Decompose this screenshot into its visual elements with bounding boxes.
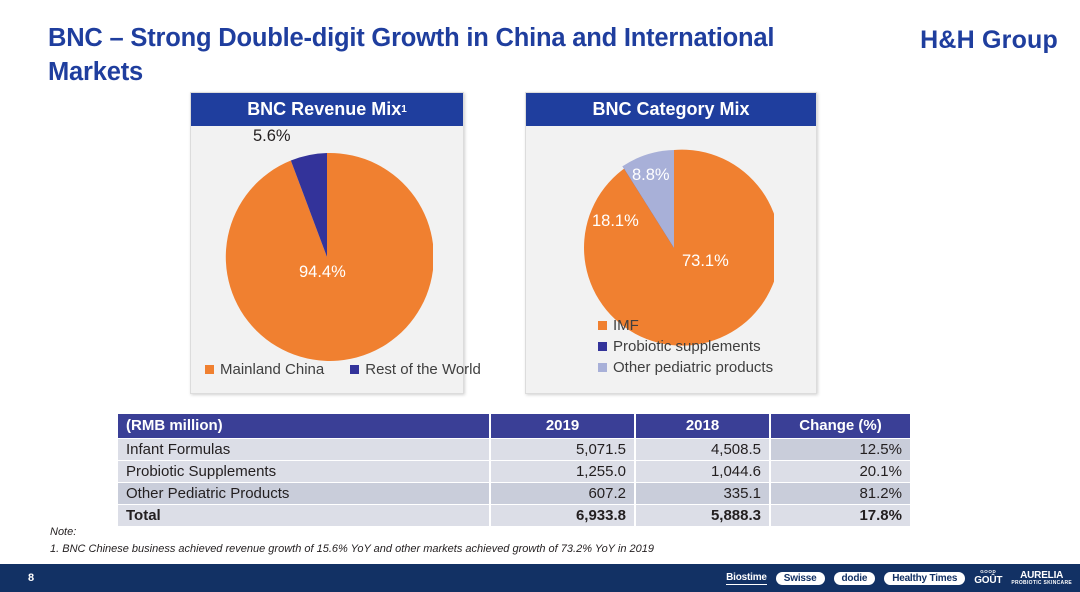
footer-brand-logos: Biostime Swisse dodie Healthy Times GOOD… [726,564,1072,592]
note-line-1: 1. BNC Chinese business achieved revenue… [50,541,654,558]
brand-logo: H&H Group [920,26,1058,55]
table-cell-change: 20.1% [770,460,910,482]
chart-title-category-mix-text: BNC Category Mix [592,99,749,120]
page-number: 8 [28,564,34,592]
pie-label-probiotic-supplements: 18.1% [592,212,639,231]
pie-svg-revenue-mix [221,151,433,363]
table-header: (RMB million) 2019 2018 Change (%) [118,414,910,438]
table-cell-change: 12.5% [770,438,910,460]
table-cell-2019: 607.2 [490,482,635,504]
footer-logo-swisse: Swisse [776,572,825,585]
table-col-header-2018: 2018 [635,414,770,438]
footer-bar: 8 Biostime Swisse dodie Healthy Times GO… [0,564,1080,592]
legend-item-mainland-china: Mainland China [205,362,324,377]
legend-item-rest-of-world: Rest of the World [350,362,481,377]
legend-label-other-pediatric: Other pediatric products [613,360,773,375]
footer-logo-aurelia: AURELIA PROBIOTIC SKINCARE [1011,570,1072,587]
chart-title-revenue-mix-text: BNC Revenue Mix [247,99,401,120]
table-col-header-2019: 2019 [490,414,635,438]
table-col-header-label: (RMB million) [118,414,490,438]
legend-category-mix: IMF Probiotic supplements Other pediatri… [598,318,773,381]
legend-swatch-lightblue-icon [598,363,607,372]
table-cell-2018: 5,888.3 [635,504,770,526]
footer-logo-biostime: Biostime [726,572,767,585]
table-body: Infant Formulas 5,071.5 4,508.5 12.5% Pr… [118,438,910,526]
pie-chart-revenue-mix: 5.6% 94.4% [221,151,433,363]
pie-label-rest-of-world: 5.6% [253,127,291,146]
table-cell-change: 17.8% [770,504,910,526]
table-cell-label: Infant Formulas [118,438,490,460]
financials-table: (RMB million) 2019 2018 Change (%) Infan… [118,414,910,527]
legend-item-imf: IMF [598,318,773,333]
footer-logo-gout-name: GOÛT [974,575,1002,586]
legend-swatch-darkblue-icon [350,365,359,374]
table-cell-label: Total [118,504,490,526]
chart-card-category-mix: BNC Category Mix 8.8% 18.1% 73.1% IMF [525,92,817,394]
table-cell-2018: 4,508.5 [635,438,770,460]
table-cell-change: 81.2% [770,482,910,504]
legend-label-imf: IMF [613,318,639,333]
table-cell-2018: 335.1 [635,482,770,504]
chart-title-category-mix: BNC Category Mix [526,93,816,126]
table-row-total: Total 6,933.8 5,888.3 17.8% [118,504,910,526]
table-col-header-change: Change (%) [770,414,910,438]
table-header-row: (RMB million) 2019 2018 Change (%) [118,414,910,438]
table-cell-label: Other Pediatric Products [118,482,490,504]
note-heading: Note: [50,524,654,541]
table-row: Other Pediatric Products 607.2 335.1 81.… [118,482,910,504]
chart-body-category-mix: 8.8% 18.1% 73.1% IMF Probiotic supplemen… [526,126,816,393]
table-cell-2018: 1,044.6 [635,460,770,482]
chart-title-revenue-mix: BNC Revenue Mix1 [191,93,463,126]
table-row: Infant Formulas 5,071.5 4,508.5 12.5% [118,438,910,460]
legend-label-rest-of-world: Rest of the World [365,362,481,377]
note-block: Note: 1. BNC Chinese business achieved r… [50,524,654,558]
pie-slice-mainland-china [226,153,433,361]
legend-swatch-darkblue-icon [598,342,607,351]
footer-logo-aurelia-sub: PROBIOTIC SKINCARE [1011,581,1072,587]
table-cell-label: Probiotic Supplements [118,460,490,482]
chart-card-revenue-mix: BNC Revenue Mix1 5.6% 94.4% Mainland Chi… [190,92,464,394]
legend-item-probiotic-supplements: Probiotic supplements [598,339,773,354]
table-cell-2019: 5,071.5 [490,438,635,460]
table-cell-2019: 1,255.0 [490,460,635,482]
legend-swatch-orange-icon [205,365,214,374]
table-cell-2019: 6,933.8 [490,504,635,526]
pie-label-mainland-china: 94.4% [299,263,346,282]
footer-logo-dodie: dodie [834,572,876,585]
footer-logo-healthy-times: Healthy Times [884,572,965,585]
pie-label-imf: 73.1% [682,252,729,271]
table-row: Probiotic Supplements 1,255.0 1,044.6 20… [118,460,910,482]
legend-label-probiotic-supplements: Probiotic supplements [613,339,761,354]
chart-title-footnote-ref: 1 [401,104,407,115]
legend-label-mainland-china: Mainland China [220,362,324,377]
pie-label-other-pediatric: 8.8% [632,166,670,185]
page-title: BNC – Strong Double-digit Growth in Chin… [48,22,848,89]
legend-swatch-orange-icon [598,321,607,330]
legend-revenue-mix: Mainland China Rest of the World [205,362,481,377]
legend-item-other-pediatric: Other pediatric products [598,360,773,375]
chart-body-revenue-mix: 5.6% 94.4% Mainland China Rest of the Wo… [191,126,463,393]
footer-logo-gout: GOOD GOÛT [974,570,1002,586]
